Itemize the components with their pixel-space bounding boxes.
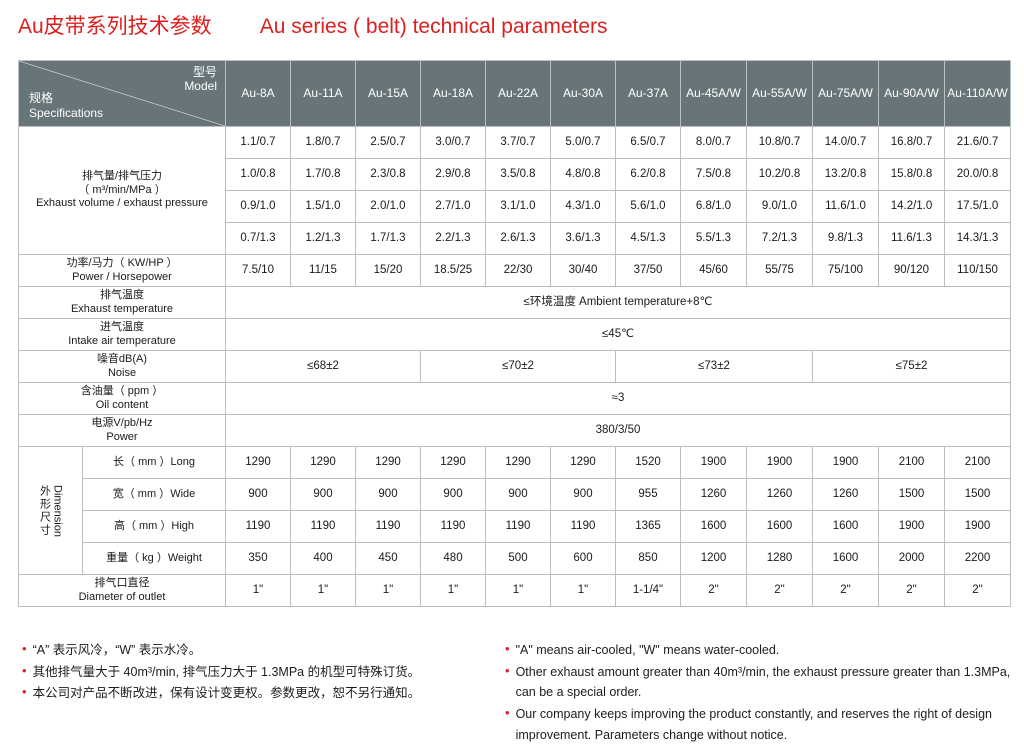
- cell-exhaust: 0.7/1.3: [226, 223, 291, 255]
- footnote-cn-text: 本公司对产品不断改进，保有设计变更权。参数更改，恕不另行通知。: [33, 683, 495, 704]
- cell-exhaust: 13.2/0.8: [813, 159, 879, 191]
- cell-dimension-long: 1520: [616, 447, 681, 479]
- cell-noise-group: ≤70±2: [421, 351, 616, 383]
- bullet-icon: •: [22, 640, 27, 658]
- cell-exhaust: 1.1/0.7: [226, 127, 291, 159]
- cell-exhaust: 2.5/0.7: [356, 127, 421, 159]
- table-header-row: 型号Model规格SpecificationsAu-8AAu-11AAu-15A…: [19, 61, 1011, 127]
- cell-exhaust: 11.6/1.0: [813, 191, 879, 223]
- cell-oil-content: ≈3: [226, 383, 1011, 415]
- sublabel-en: Long: [170, 456, 194, 468]
- cell-power-horsepower: 90/120: [879, 255, 945, 287]
- cell-dimension-weight: 500: [486, 543, 551, 575]
- cell-diameter-of-outlet: 1": [486, 575, 551, 607]
- row-label-exhaust-volume-pressure: 排气量/排气压力（ m³/min/MPa ）Exhaust volume / e…: [19, 127, 226, 255]
- cell-power-horsepower: 11/15: [291, 255, 356, 287]
- cell-dimension-high: 1190: [291, 511, 356, 543]
- label-cn: 噪音dB(A): [21, 353, 223, 367]
- cell-dimension-high: 1190: [226, 511, 291, 543]
- cell-diameter-of-outlet: 2": [813, 575, 879, 607]
- table-row: 排气口直径Diameter of outlet1"1"1"1"1"1"1-1/4…: [19, 575, 1011, 607]
- cell-dimension-long: 1290: [486, 447, 551, 479]
- cell-exhaust: 9.8/1.3: [813, 223, 879, 255]
- cell-diameter-of-outlet: 1": [421, 575, 486, 607]
- cell-diameter-of-outlet: 1": [356, 575, 421, 607]
- cell-dimension-wide: 1260: [813, 479, 879, 511]
- cell-exhaust: 1.7/1.3: [356, 223, 421, 255]
- label-cn: 排气温度: [21, 289, 223, 303]
- sublabel-cn: 宽（ mm ）: [113, 488, 170, 500]
- row-sublabel-long: 长（ mm ）Long: [83, 447, 226, 479]
- cell-power-horsepower: 22/30: [486, 255, 551, 287]
- footnote-cn: •本公司对产品不断改进，保有设计变更权。参数更改，恕不另行通知。: [22, 683, 495, 704]
- bullet-icon: •: [505, 662, 510, 680]
- label-cn: 排气口直径: [21, 577, 223, 591]
- cell-exhaust: 4.3/1.0: [551, 191, 616, 223]
- specifications-table: 型号Model规格SpecificationsAu-8AAu-11AAu-15A…: [18, 60, 1011, 607]
- sublabel-cn: 长（ mm ）: [113, 456, 170, 468]
- cell-exhaust: 2.2/1.3: [421, 223, 486, 255]
- table-row: 宽（ mm ）Wide90090090090090090095512601260…: [19, 479, 1011, 511]
- cell-exhaust: 9.0/1.0: [747, 191, 813, 223]
- cell-power-horsepower: 110/150: [945, 255, 1011, 287]
- cell-power-horsepower: 45/60: [681, 255, 747, 287]
- cell-noise-group: ≤68±2: [226, 351, 421, 383]
- table-row: 排气量/排气压力（ m³/min/MPa ）Exhaust volume / e…: [19, 127, 1011, 159]
- cell-exhaust: 4.8/0.8: [551, 159, 616, 191]
- cell-dimension-long: 1290: [356, 447, 421, 479]
- header-spec-cn: 规格: [29, 91, 53, 105]
- cell-dimension-long: 1290: [226, 447, 291, 479]
- cell-exhaust: 1.7/0.8: [291, 159, 356, 191]
- cell-dimension-weight: 400: [291, 543, 356, 575]
- cell-power-horsepower: 37/50: [616, 255, 681, 287]
- cell-exhaust: 1.2/1.3: [291, 223, 356, 255]
- cell-dimension-wide: 955: [616, 479, 681, 511]
- cell-dimension-high: 1365: [616, 511, 681, 543]
- footnote-en-text: Our company keeps improving the product …: [516, 704, 1015, 745]
- cell-noise-group: ≤75±2: [813, 351, 1011, 383]
- dimension-label-en: Dimension: [52, 485, 63, 537]
- row-label-diameter-of-outlet: 排气口直径Diameter of outlet: [19, 575, 226, 607]
- header-model-au-45a-w: Au-45A/W: [681, 61, 747, 127]
- spec-sheet-page: Au皮带系列技术参数 Au series ( belt) technical p…: [0, 0, 1024, 751]
- cell-dimension-wide: 1500: [879, 479, 945, 511]
- cell-dimension-long: 1290: [291, 447, 356, 479]
- cell-exhaust-temperature: ≤环境温度 Ambient temperature+8℃: [226, 287, 1011, 319]
- header-spec-en: Specifications: [29, 106, 103, 120]
- cell-dimension-weight: 1600: [813, 543, 879, 575]
- cell-dimension-high: 1600: [813, 511, 879, 543]
- page-title-en: Au series ( belt) technical parameters: [260, 15, 608, 39]
- cell-exhaust: 8.0/0.7: [681, 127, 747, 159]
- cell-diameter-of-outlet: 2": [681, 575, 747, 607]
- table-row: 噪音dB(A)Noise≤68±2≤70±2≤73±2≤75±2: [19, 351, 1011, 383]
- cell-exhaust: 3.6/1.3: [551, 223, 616, 255]
- table-row: 进气温度Intake air temperature≤45℃: [19, 319, 1011, 351]
- cell-exhaust: 11.6/1.3: [879, 223, 945, 255]
- cell-exhaust: 1.0/0.8: [226, 159, 291, 191]
- cell-exhaust: 1.5/1.0: [291, 191, 356, 223]
- label-cn: 含油量（ ppm ）: [21, 385, 223, 399]
- label-cn: 进气温度: [21, 321, 223, 335]
- cell-dimension-weight: 2000: [879, 543, 945, 575]
- cell-exhaust: 10.2/0.8: [747, 159, 813, 191]
- cell-dimension-long: 1290: [551, 447, 616, 479]
- label-en: Power / Horsepower: [21, 271, 223, 285]
- cell-exhaust: 1.8/0.7: [291, 127, 356, 159]
- sublabel-en: Wide: [170, 488, 195, 500]
- cell-dimension-long: 1900: [747, 447, 813, 479]
- footnotes: •“A” 表示风冷，“W” 表示水冷。•其他排气量大于 40m³/min, 排气…: [0, 640, 1024, 746]
- cell-dimension-wide: 1260: [747, 479, 813, 511]
- header-model-au-75a-w: Au-75A/W: [813, 61, 879, 127]
- cell-dimension-wide: 900: [486, 479, 551, 511]
- header-model-cn: 型号: [193, 65, 217, 79]
- cell-dimension-long: 1290: [421, 447, 486, 479]
- header-model-au-30a: Au-30A: [551, 61, 616, 127]
- cell-exhaust: 2.7/1.0: [421, 191, 486, 223]
- cell-power-supply: 380/3/50: [226, 415, 1011, 447]
- sublabel-en: Weight: [168, 552, 202, 564]
- cell-dimension-high: 1600: [747, 511, 813, 543]
- footnote-en-text: "A" means air-cooled, "W" means water-co…: [516, 640, 1015, 661]
- header-model-au-22a: Au-22A: [486, 61, 551, 127]
- cell-dimension-weight: 600: [551, 543, 616, 575]
- header-model-au-8a: Au-8A: [226, 61, 291, 127]
- cell-exhaust: 7.5/0.8: [681, 159, 747, 191]
- cell-exhaust: 17.5/1.0: [945, 191, 1011, 223]
- cell-exhaust: 2.3/0.8: [356, 159, 421, 191]
- cell-diameter-of-outlet: 1": [551, 575, 616, 607]
- header-corner-cell: 型号Model规格Specifications: [19, 61, 226, 127]
- footnote-cn: •其他排气量大于 40m³/min, 排气压力大于 1.3MPa 的机型可特殊订…: [22, 662, 495, 683]
- label-en: Oil content: [21, 399, 223, 413]
- cell-exhaust: 20.0/0.8: [945, 159, 1011, 191]
- header-model-au-55a-w: Au-55A/W: [747, 61, 813, 127]
- cell-exhaust: 6.2/0.8: [616, 159, 681, 191]
- cell-diameter-of-outlet: 1": [226, 575, 291, 607]
- cell-exhaust: 3.7/0.7: [486, 127, 551, 159]
- cell-power-horsepower: 75/100: [813, 255, 879, 287]
- cell-dimension-long: 1900: [681, 447, 747, 479]
- cell-dimension-wide: 900: [356, 479, 421, 511]
- cell-dimension-high: 1900: [879, 511, 945, 543]
- cell-exhaust: 5.0/0.7: [551, 127, 616, 159]
- cell-exhaust: 7.2/1.3: [747, 223, 813, 255]
- cell-power-horsepower: 15/20: [356, 255, 421, 287]
- label-en: Power: [21, 431, 223, 445]
- cell-dimension-weight: 1200: [681, 543, 747, 575]
- header-model-au-90a-w: Au-90A/W: [879, 61, 945, 127]
- cell-diameter-of-outlet: 2": [747, 575, 813, 607]
- label-en: Exhaust volume / exhaust pressure: [21, 197, 223, 211]
- cell-dimension-weight: 450: [356, 543, 421, 575]
- footnote-en: •Other exhaust amount greater than 40m³/…: [505, 662, 1015, 703]
- cell-dimension-weight: 350: [226, 543, 291, 575]
- cell-exhaust: 3.0/0.7: [421, 127, 486, 159]
- cell-dimension-high: 1600: [681, 511, 747, 543]
- header-model-au-18a: Au-18A: [421, 61, 486, 127]
- cell-exhaust: 16.8/0.7: [879, 127, 945, 159]
- cell-exhaust: 6.5/0.7: [616, 127, 681, 159]
- table-row: 电源V/pb/HzPower380/3/50: [19, 415, 1011, 447]
- label-cn: 功率/马力（ KW/HP ）: [21, 257, 223, 271]
- cell-dimension-long: 1900: [813, 447, 879, 479]
- table-row: 含油量（ ppm ）Oil content≈3: [19, 383, 1011, 415]
- header-model-au-15a: Au-15A: [356, 61, 421, 127]
- header-model-au-37a: Au-37A: [616, 61, 681, 127]
- row-label-oil-content: 含油量（ ppm ）Oil content: [19, 383, 226, 415]
- cell-diameter-of-outlet: 1-1/4": [616, 575, 681, 607]
- row-sublabel-wide: 宽（ mm ）Wide: [83, 479, 226, 511]
- cell-dimension-high: 1190: [421, 511, 486, 543]
- row-label-power-horsepower: 功率/马力（ KW/HP ）Power / Horsepower: [19, 255, 226, 287]
- cell-exhaust: 0.9/1.0: [226, 191, 291, 223]
- cell-exhaust: 14.2/1.0: [879, 191, 945, 223]
- cell-dimension-high: 1190: [356, 511, 421, 543]
- cell-dimension-high: 1900: [945, 511, 1011, 543]
- table-row: 排气温度Exhaust temperature≤环境温度 Ambient tem…: [19, 287, 1011, 319]
- cell-exhaust: 15.8/0.8: [879, 159, 945, 191]
- label-cn: 电源V/pb/Hz: [21, 417, 223, 431]
- cell-dimension-weight: 1280: [747, 543, 813, 575]
- row-label-intake-air-temperature: 进气温度Intake air temperature: [19, 319, 226, 351]
- cell-exhaust: 6.8/1.0: [681, 191, 747, 223]
- cell-diameter-of-outlet: 1": [291, 575, 356, 607]
- cell-exhaust: 14.0/0.7: [813, 127, 879, 159]
- cell-dimension-wide: 900: [291, 479, 356, 511]
- bullet-icon: •: [505, 640, 510, 658]
- cell-exhaust: 3.5/0.8: [486, 159, 551, 191]
- table-row: 功率/马力（ KW/HP ）Power / Horsepower7.5/1011…: [19, 255, 1011, 287]
- cell-dimension-wide: 900: [551, 479, 616, 511]
- cell-dimension-high: 1190: [486, 511, 551, 543]
- cell-dimension-high: 1190: [551, 511, 616, 543]
- footnote-en-text: Other exhaust amount greater than 40m³/m…: [516, 662, 1015, 703]
- cell-dimension-weight: 480: [421, 543, 486, 575]
- cell-power-horsepower: 55/75: [747, 255, 813, 287]
- header-model-au-110a-w: Au-110A/W: [945, 61, 1011, 127]
- cell-dimension-wide: 900: [226, 479, 291, 511]
- cell-dimension-long: 2100: [945, 447, 1011, 479]
- footnote-en: •"A" means air-cooled, "W" means water-c…: [505, 640, 1015, 661]
- cell-dimension-wide: 1260: [681, 479, 747, 511]
- table-row: 外形尺寸Dimension长（ mm ）Long1290129012901290…: [19, 447, 1011, 479]
- footnote-cn-text: 其他排气量大于 40m³/min, 排气压力大于 1.3MPa 的机型可特殊订货…: [33, 662, 495, 683]
- label-en: Noise: [21, 367, 223, 381]
- label-cn: 排气量/排气压力: [21, 170, 223, 184]
- bullet-icon: •: [22, 662, 27, 680]
- cell-power-horsepower: 18.5/25: [421, 255, 486, 287]
- sublabel-cn: 重量（ kg ）: [106, 552, 168, 564]
- row-sublabel-weight: 重量（ kg ）Weight: [83, 543, 226, 575]
- sublabel-cn: 高（ mm ）: [114, 520, 171, 532]
- cell-dimension-long: 2100: [879, 447, 945, 479]
- bullet-icon: •: [505, 704, 510, 722]
- row-sublabel-high: 高（ mm ）High: [83, 511, 226, 543]
- footnotes-chinese: •“A” 表示风冷，“W” 表示水冷。•其他排气量大于 40m³/min, 排气…: [0, 640, 495, 746]
- cell-exhaust: 4.5/1.3: [616, 223, 681, 255]
- page-title: Au皮带系列技术参数 Au series ( belt) technical p…: [18, 10, 608, 40]
- label-en: Exhaust temperature: [21, 303, 223, 317]
- row-label-exhaust-temperature: 排气温度Exhaust temperature: [19, 287, 226, 319]
- cell-intake-air-temperature: ≤45℃: [226, 319, 1011, 351]
- specifications-table-wrapper: 型号Model规格SpecificationsAu-8AAu-11AAu-15A…: [18, 60, 1006, 607]
- label-en: Diameter of outlet: [21, 591, 223, 605]
- table-row: 重量（ kg ）Weight35040045048050060085012001…: [19, 543, 1011, 575]
- cell-exhaust: 3.1/1.0: [486, 191, 551, 223]
- header-model-en: Model: [184, 79, 217, 93]
- sublabel-en: High: [171, 520, 194, 532]
- cell-power-horsepower: 7.5/10: [226, 255, 291, 287]
- header-model-au-11a: Au-11A: [291, 61, 356, 127]
- cell-exhaust: 5.5/1.3: [681, 223, 747, 255]
- table-row: 高（ mm ）High11901190119011901190119013651…: [19, 511, 1011, 543]
- cell-diameter-of-outlet: 2": [945, 575, 1011, 607]
- bullet-icon: •: [22, 683, 27, 701]
- row-label-dimension: 外形尺寸Dimension: [19, 447, 83, 575]
- cell-dimension-weight: 2200: [945, 543, 1011, 575]
- cell-diameter-of-outlet: 2": [879, 575, 945, 607]
- footnote-en: •Our company keeps improving the product…: [505, 704, 1015, 745]
- cell-exhaust: 2.6/1.3: [486, 223, 551, 255]
- footnote-cn-text: “A” 表示风冷，“W” 表示水冷。: [33, 640, 495, 661]
- cell-exhaust: 21.6/0.7: [945, 127, 1011, 159]
- footnote-cn: •“A” 表示风冷，“W” 表示水冷。: [22, 640, 495, 661]
- label-unit: （ m³/min/MPa ）: [21, 184, 223, 198]
- row-label-power-supply: 电源V/pb/HzPower: [19, 415, 226, 447]
- cell-power-horsepower: 30/40: [551, 255, 616, 287]
- cell-dimension-wide: 900: [421, 479, 486, 511]
- label-en: Intake air temperature: [21, 335, 223, 349]
- cell-exhaust: 2.0/1.0: [356, 191, 421, 223]
- cell-exhaust: 10.8/0.7: [747, 127, 813, 159]
- cell-noise-group: ≤73±2: [616, 351, 813, 383]
- cell-exhaust: 2.9/0.8: [421, 159, 486, 191]
- cell-exhaust: 14.3/1.3: [945, 223, 1011, 255]
- cell-dimension-weight: 850: [616, 543, 681, 575]
- dimension-label-cn: 外形尺寸: [39, 485, 50, 537]
- cell-dimension-wide: 1500: [945, 479, 1011, 511]
- cell-exhaust: 5.6/1.0: [616, 191, 681, 223]
- footnotes-english: •"A" means air-cooled, "W" means water-c…: [495, 640, 1015, 746]
- row-label-noise: 噪音dB(A)Noise: [19, 351, 226, 383]
- page-title-cn: Au皮带系列技术参数: [18, 10, 212, 40]
